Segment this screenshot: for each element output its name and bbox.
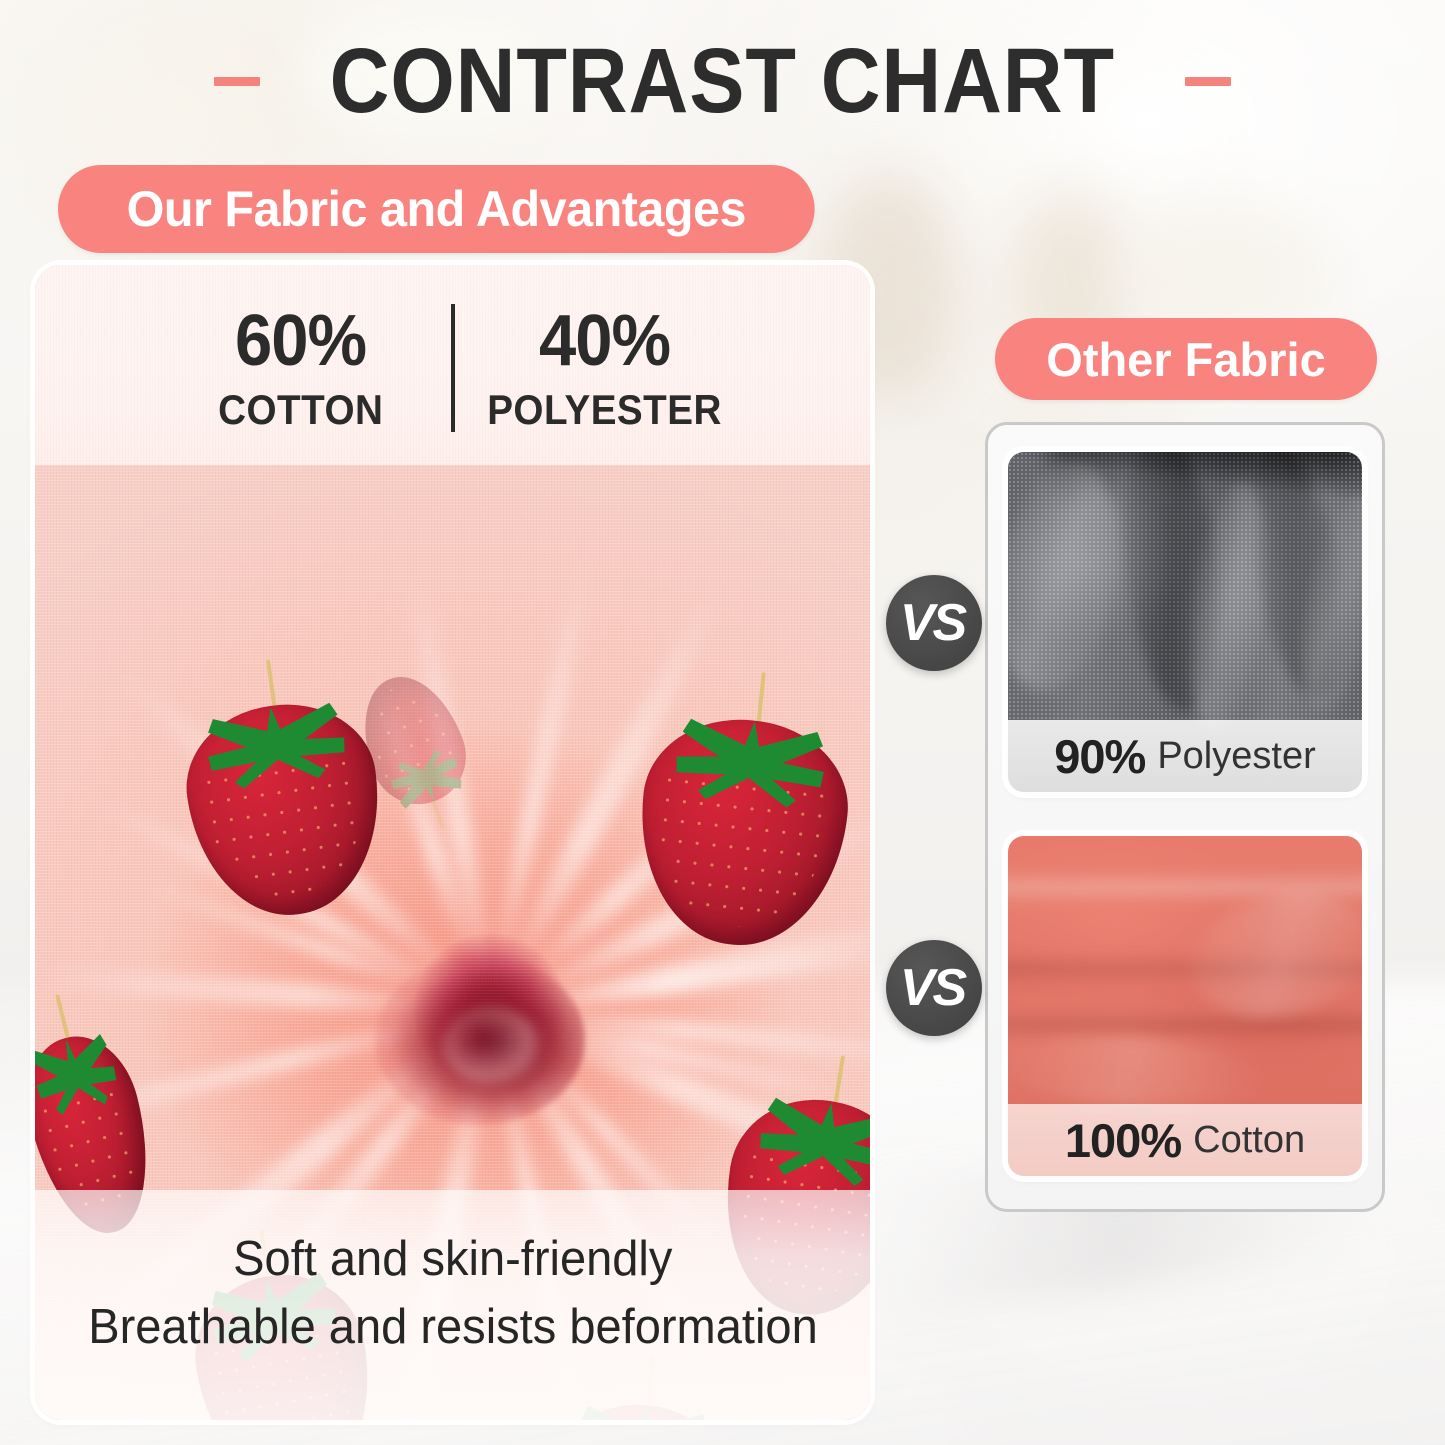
our-fabric-badge: Our Fabric and Advantages <box>58 165 815 253</box>
vs-badge-label: VS <box>900 962 968 1014</box>
title-dash-right-icon <box>1185 77 1231 86</box>
fabric-crease <box>1008 1029 1260 1113</box>
cotton-material-name: Cotton <box>1193 1121 1305 1159</box>
polyester-fabric-photo <box>1008 452 1362 720</box>
caption-line-2: Breathable and resists beformation <box>88 1298 818 1358</box>
polyester-label-bar: 90% Polyester <box>1008 720 1362 792</box>
card-caption: Soft and skin-friendly Breathable and re… <box>35 1190 870 1420</box>
cotton-percent-value: 100% <box>1065 1117 1181 1164</box>
composition-row: 60% COTTON 40% POLYESTER <box>35 293 870 443</box>
caption-line-1: Soft and skin-friendly <box>233 1230 672 1290</box>
other-fabric-swatch-polyester: 90% Polyester <box>1008 452 1362 792</box>
other-fabric-badge-label: Other Fabric <box>1046 332 1325 387</box>
strawberry-leaf-icon <box>658 705 843 813</box>
our-fabric-card: 60% COTTON 40% POLYESTER Soft and skin-f… <box>35 265 870 1420</box>
cotton-label: COTTON <box>218 389 383 431</box>
other-fabric-swatch-cotton: 100% Cotton <box>1008 836 1362 1176</box>
vs-badge-bottom: VS <box>886 940 982 1036</box>
our-fabric-badge-label: Our Fabric and Advantages <box>127 180 746 238</box>
vs-badge-top: VS <box>886 575 982 671</box>
cotton-fabric-photo <box>1008 836 1362 1104</box>
vs-badge-label: VS <box>900 597 968 649</box>
page-title: CONTRAST CHART <box>330 35 1115 127</box>
other-fabric-badge: Other Fabric <box>995 318 1377 400</box>
polyester-percent-value: 90% <box>1054 733 1145 780</box>
fabric-swirl-highlight <box>443 1007 539 1085</box>
polyester-label: POLYESTER <box>487 389 722 431</box>
polyester-percent: 40% <box>539 305 670 377</box>
cotton-percent: 60% <box>235 305 366 377</box>
fabric-crease <box>1008 1012 1362 1038</box>
cotton-label-bar: 100% Cotton <box>1008 1104 1362 1176</box>
page-header: CONTRAST CHART <box>0 26 1445 136</box>
strawberry-motif <box>629 710 856 955</box>
composition-cotton: 60% COTTON <box>155 305 447 431</box>
title-dash-left-icon <box>214 77 260 86</box>
composition-divider <box>451 304 455 432</box>
composition-polyester: 40% POLYESTER <box>459 305 751 431</box>
fabric-shadow <box>1048 452 1348 498</box>
polyester-material-name: Polyester <box>1157 737 1315 775</box>
